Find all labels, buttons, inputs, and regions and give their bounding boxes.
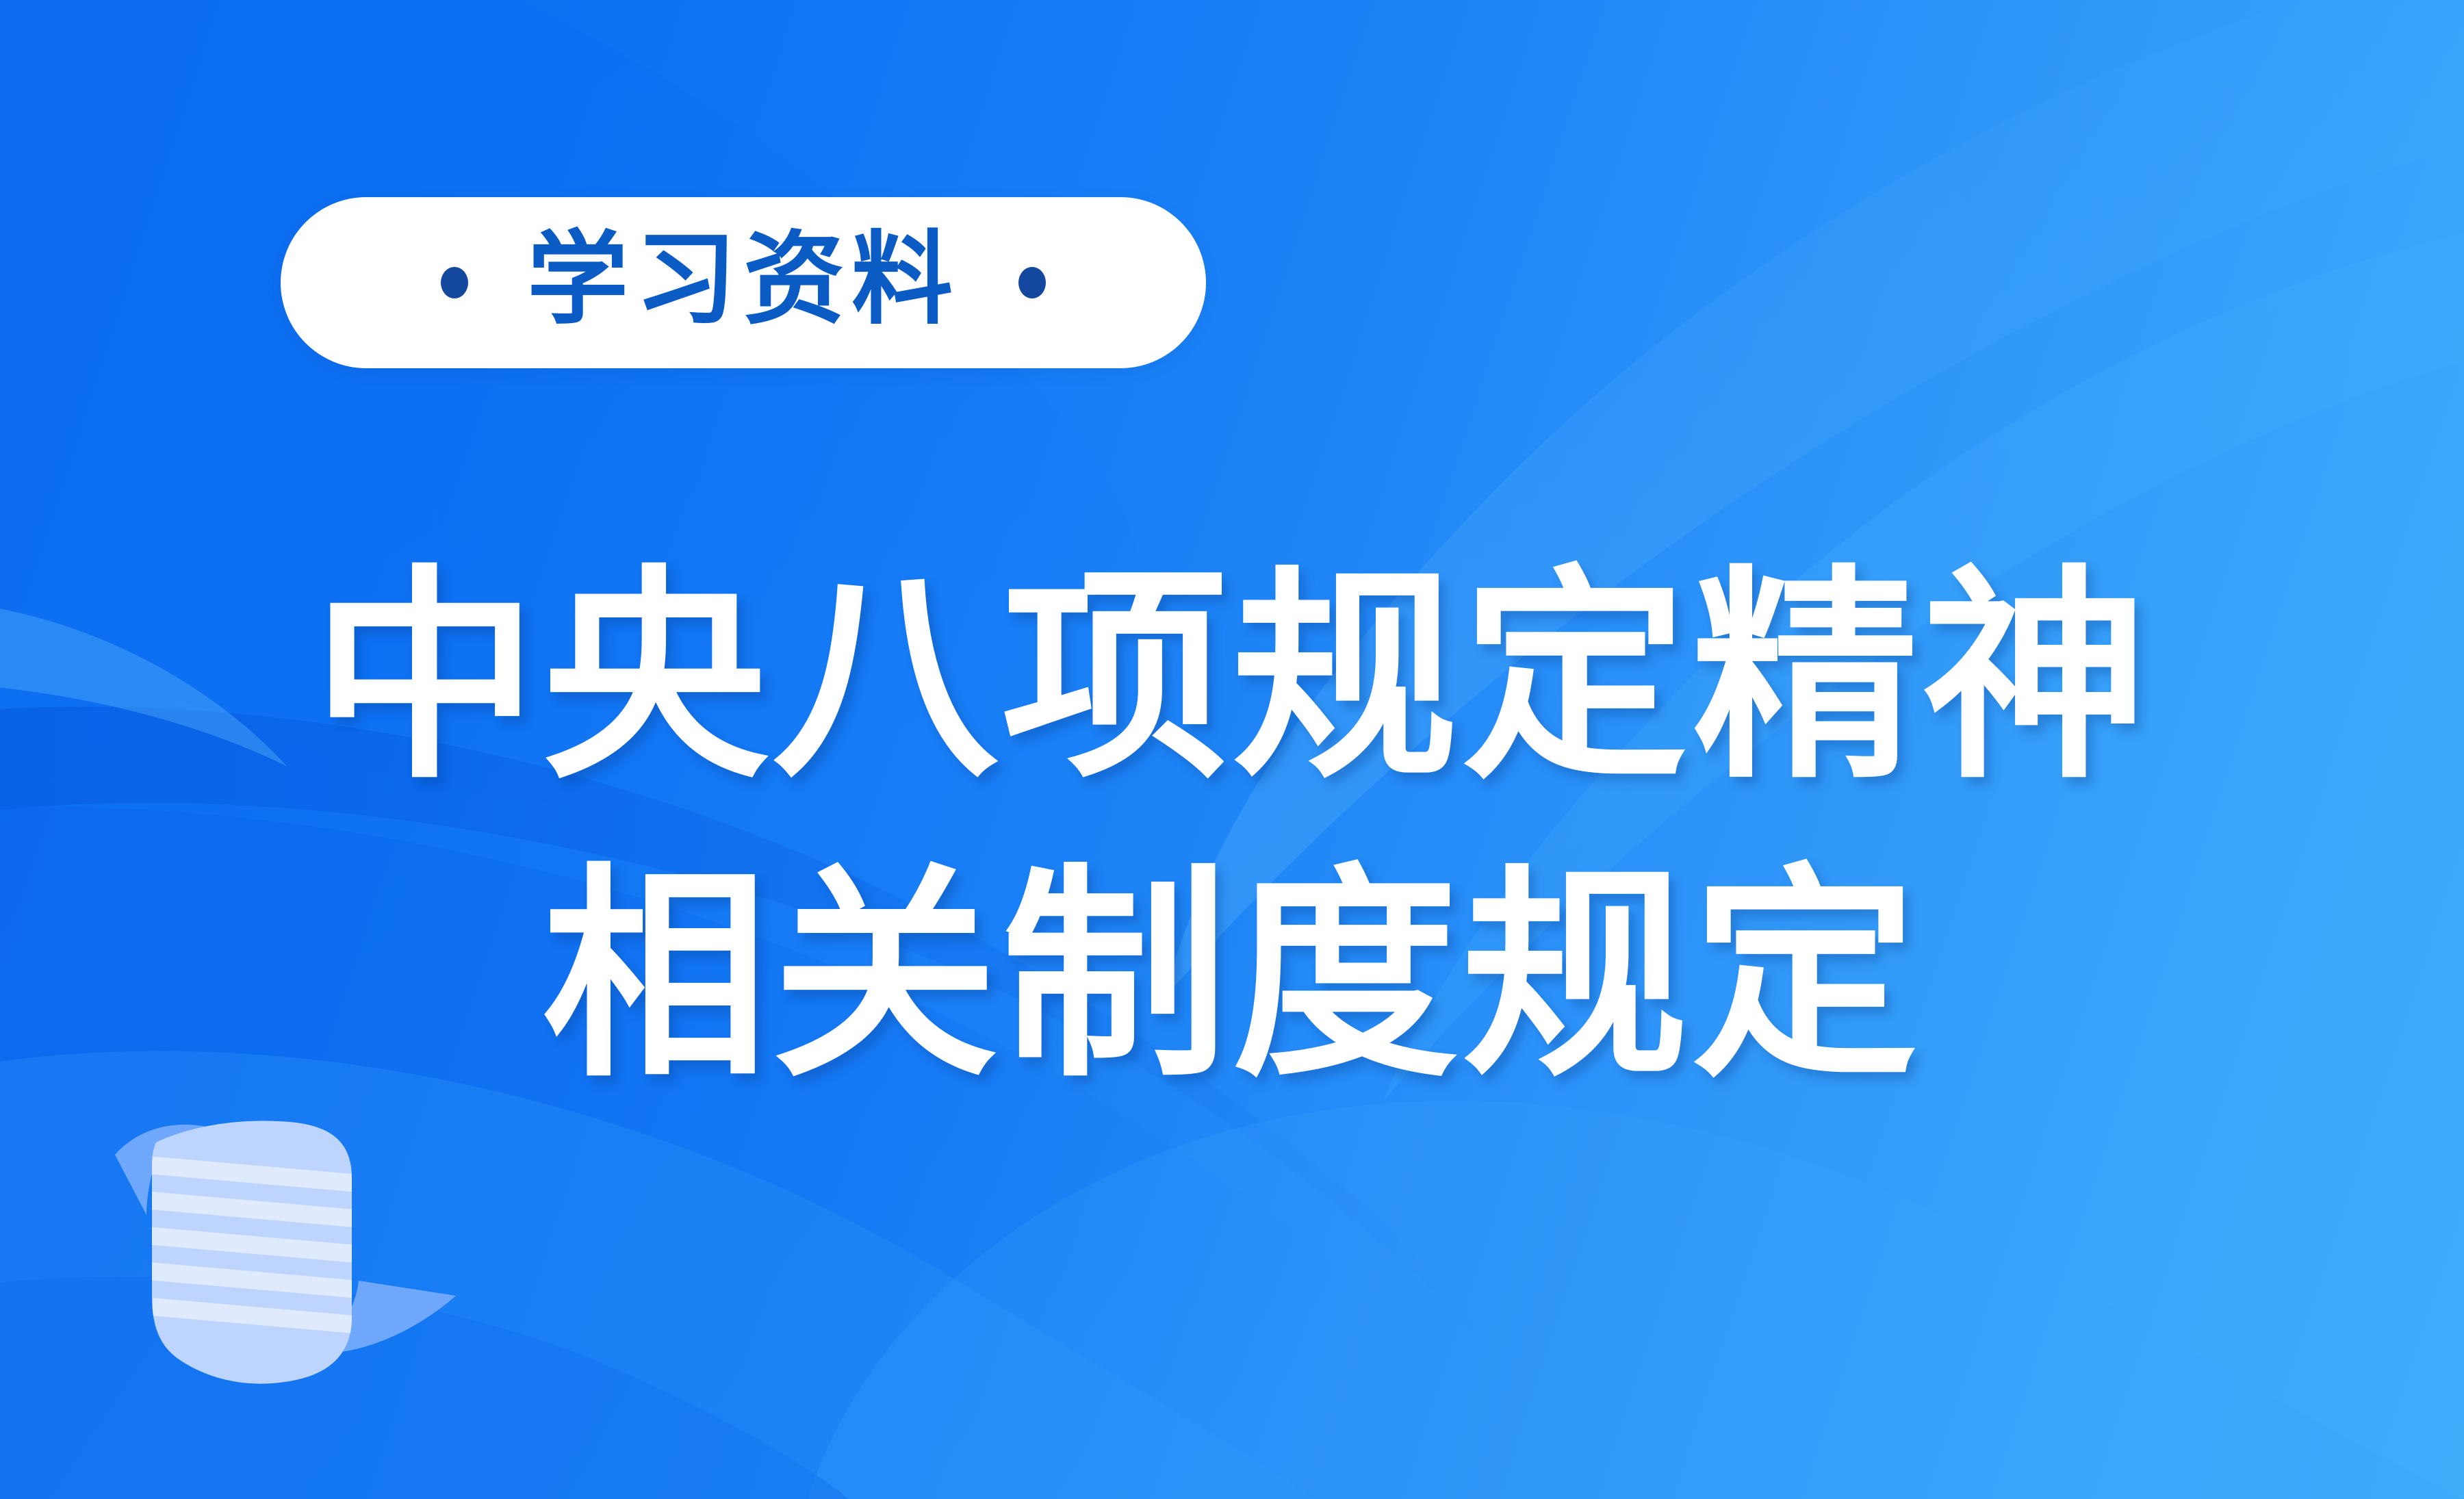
poster-canvas: 学习资料 中央八项规定精神 相关制度规定 <box>0 0 2464 1499</box>
wave-bottom-right-light <box>808 1101 2464 1499</box>
title-line-1: 中央八项规定精神 <box>0 528 2464 827</box>
title-line-2: 相关制度规定 <box>0 827 2464 1125</box>
poster-title: 中央八项规定精神 相关制度规定 <box>0 528 2464 1125</box>
study-material-badge: 学习资料 <box>281 197 1206 368</box>
curled-document-icon <box>75 1112 459 1400</box>
badge-label: 学习资料 <box>527 229 960 336</box>
dot-icon-right <box>1018 267 1046 298</box>
dot-icon-left <box>441 267 468 298</box>
